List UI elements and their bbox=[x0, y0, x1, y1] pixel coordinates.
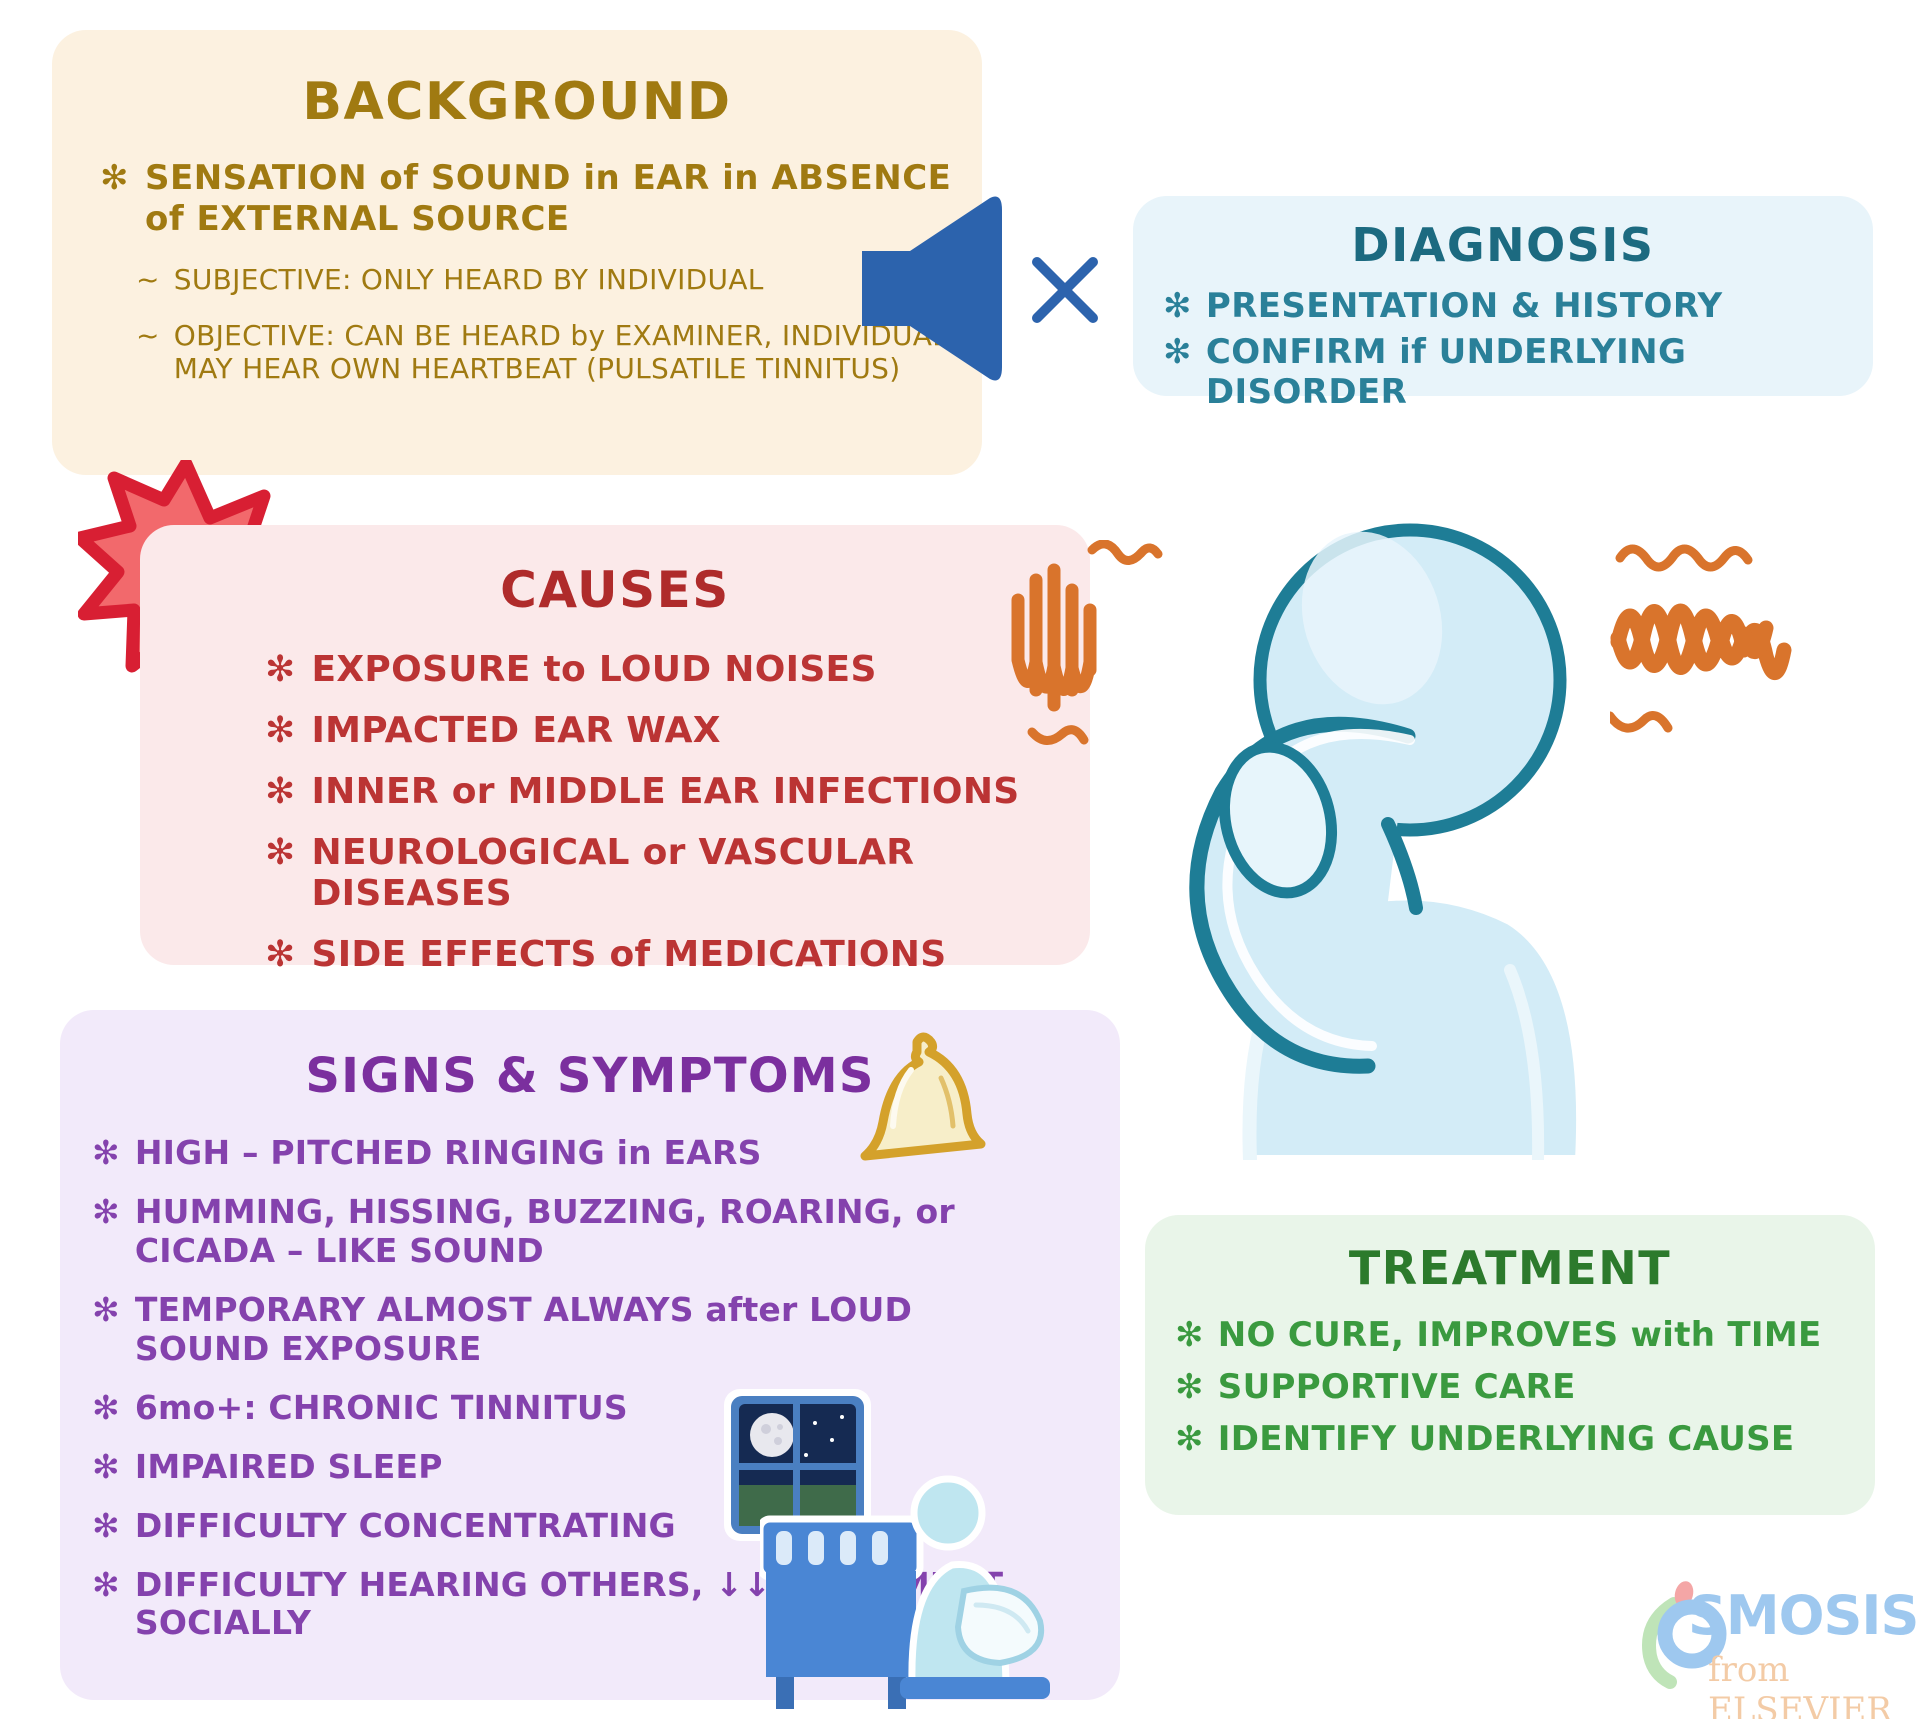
causes-item: ✻ INNER or MIDDLE EAR INFECTIONS bbox=[265, 771, 1090, 812]
asterisk-bullet-icon: ✻ bbox=[92, 1193, 120, 1271]
background-list: ✻ SENSATION of SOUND in EAR in ABSENCE o… bbox=[100, 158, 982, 386]
background-sub-item: ~ OBJECTIVE: CAN BE HEARD by EXAMINER, I… bbox=[136, 319, 982, 386]
causes-item: ✻ IMPACTED EAR WAX bbox=[265, 710, 1090, 751]
tilde-bullet-icon: ~ bbox=[136, 319, 160, 386]
treatment-title: TREATMENT bbox=[1145, 1241, 1875, 1295]
symptoms-item: ✻ 6mo+: CHRONIC TINNITUS bbox=[92, 1389, 1120, 1428]
causes-list: ✻ EXPOSURE to LOUD NOISES ✻ IMPACTED EAR… bbox=[265, 649, 1090, 975]
asterisk-bullet-icon: ✻ bbox=[92, 1566, 120, 1644]
background-sub-text: SUBJECTIVE: ONLY HEARD BY INDIVIDUAL bbox=[174, 263, 764, 297]
asterisk-bullet-icon: ✻ bbox=[265, 832, 295, 914]
asterisk-bullet-icon: ✻ bbox=[92, 1291, 120, 1369]
diagnosis-card: DIAGNOSIS ✻ PRESENTATION & HISTORY ✻ CON… bbox=[1133, 196, 1873, 396]
causes-title: CAUSES bbox=[140, 561, 1090, 619]
osmosis-subtitle: from ELSEVIER bbox=[1708, 1650, 1895, 1719]
asterisk-bullet-icon: ✻ bbox=[265, 710, 295, 751]
asterisk-bullet-icon: ✻ bbox=[265, 771, 295, 812]
background-sub-item: ~ SUBJECTIVE: ONLY HEARD BY INDIVIDUAL bbox=[136, 263, 982, 297]
causes-item-text: IMPACTED EAR WAX bbox=[311, 710, 720, 751]
diagnosis-item-text: CONFIRM if UNDERLYING DISORDER bbox=[1206, 332, 1873, 412]
diagnosis-item: ✻ CONFIRM if UNDERLYING DISORDER bbox=[1163, 332, 1873, 412]
tilde-bullet-icon: ~ bbox=[136, 263, 160, 297]
osmosis-logo: SMOSIS from ELSEVIER bbox=[1630, 1578, 1895, 1703]
symptoms-item-text: IMPAIRED SLEEP bbox=[135, 1448, 443, 1487]
causes-item-text: NEUROLOGICAL or VASCULAR DISEASES bbox=[311, 832, 1090, 914]
asterisk-bullet-icon: ✻ bbox=[265, 934, 295, 975]
asterisk-bullet-icon: ✻ bbox=[1175, 1419, 1204, 1459]
asterisk-bullet-icon: ✻ bbox=[92, 1134, 120, 1173]
background-main-item: ✻ SENSATION of SOUND in EAR in ABSENCE o… bbox=[100, 158, 982, 241]
diagnosis-item: ✻ PRESENTATION & HISTORY bbox=[1163, 286, 1873, 326]
treatment-card: TREATMENT ✻ NO CURE, IMPROVES with TIME … bbox=[1145, 1215, 1875, 1515]
treatment-item: ✻ IDENTIFY UNDERLYING CAUSE bbox=[1175, 1419, 1875, 1459]
asterisk-bullet-icon: ✻ bbox=[92, 1389, 120, 1428]
causes-item-text: INNER or MIDDLE EAR INFECTIONS bbox=[311, 771, 1019, 812]
person-in-bed-icon bbox=[760, 1465, 1050, 1715]
treatment-item: ✻ NO CURE, IMPROVES with TIME bbox=[1175, 1315, 1875, 1355]
asterisk-bullet-icon: ✻ bbox=[265, 649, 295, 690]
x-mark-icon bbox=[1030, 255, 1100, 325]
asterisk-bullet-icon: ✻ bbox=[1175, 1367, 1204, 1407]
symptoms-item-text: HIGH – PITCHED RINGING in EARS bbox=[135, 1134, 762, 1173]
person-holding-ear-icon bbox=[1110, 500, 1670, 1160]
asterisk-bullet-icon: ✻ bbox=[100, 158, 129, 241]
asterisk-bullet-icon: ✻ bbox=[1175, 1315, 1204, 1355]
background-title: BACKGROUND bbox=[52, 72, 982, 132]
osmosis-wordmark: SMOSIS bbox=[1688, 1584, 1918, 1647]
asterisk-bullet-icon: ✻ bbox=[1163, 332, 1192, 412]
background-main-text: SENSATION of SOUND in EAR in ABSENCE of … bbox=[145, 158, 958, 241]
causes-item-text: SIDE EFFECTS of MEDICATIONS bbox=[311, 934, 946, 975]
asterisk-bullet-icon: ✻ bbox=[1163, 286, 1192, 326]
asterisk-bullet-icon: ✻ bbox=[92, 1448, 120, 1487]
symptoms-item: ✻ TEMPORARY ALMOST ALWAYS after LOUD SOU… bbox=[92, 1291, 1120, 1369]
causes-item: ✻ EXPOSURE to LOUD NOISES bbox=[265, 649, 1090, 690]
symptoms-item-text: HUMMING, HISSING, BUZZING, ROARING, or C… bbox=[135, 1193, 1035, 1271]
infographic-canvas: BACKGROUND ✻ SENSATION of SOUND in EAR i… bbox=[0, 0, 1920, 1719]
symptoms-item-text: DIFFICULTY CONCENTRATING bbox=[135, 1507, 676, 1546]
muted-speaker-icon bbox=[862, 196, 1002, 381]
background-card: BACKGROUND ✻ SENSATION of SOUND in EAR i… bbox=[52, 30, 982, 475]
diagnosis-list: ✻ PRESENTATION & HISTORY ✻ CONFIRM if UN… bbox=[1163, 286, 1873, 412]
causes-card: CAUSES ✻ EXPOSURE to LOUD NOISES ✻ IMPAC… bbox=[140, 525, 1090, 965]
symptoms-item-text: 6mo+: CHRONIC TINNITUS bbox=[135, 1389, 628, 1428]
diagnosis-title: DIAGNOSIS bbox=[1133, 218, 1873, 272]
diagnosis-item-text: PRESENTATION & HISTORY bbox=[1206, 286, 1723, 326]
causes-item: ✻ NEUROLOGICAL or VASCULAR DISEASES bbox=[265, 832, 1090, 914]
symptoms-item: ✻ HUMMING, HISSING, BUZZING, ROARING, or… bbox=[92, 1193, 1120, 1271]
asterisk-bullet-icon: ✻ bbox=[92, 1507, 120, 1546]
treatment-item: ✻ SUPPORTIVE CARE bbox=[1175, 1367, 1875, 1407]
treatment-item-text: IDENTIFY UNDERLYING CAUSE bbox=[1218, 1419, 1795, 1459]
causes-item: ✻ SIDE EFFECTS of MEDICATIONS bbox=[265, 934, 1090, 975]
treatment-list: ✻ NO CURE, IMPROVES with TIME ✻ SUPPORTI… bbox=[1175, 1315, 1875, 1459]
bell-icon bbox=[855, 1030, 990, 1165]
treatment-item-text: SUPPORTIVE CARE bbox=[1218, 1367, 1576, 1407]
treatment-item-text: NO CURE, IMPROVES with TIME bbox=[1218, 1315, 1822, 1355]
causes-item-text: EXPOSURE to LOUD NOISES bbox=[311, 649, 876, 690]
background-sub-text: OBJECTIVE: CAN BE HEARD by EXAMINER, IND… bbox=[174, 319, 952, 386]
symptoms-item-text: TEMPORARY ALMOST ALWAYS after LOUD SOUND… bbox=[135, 1291, 1035, 1369]
